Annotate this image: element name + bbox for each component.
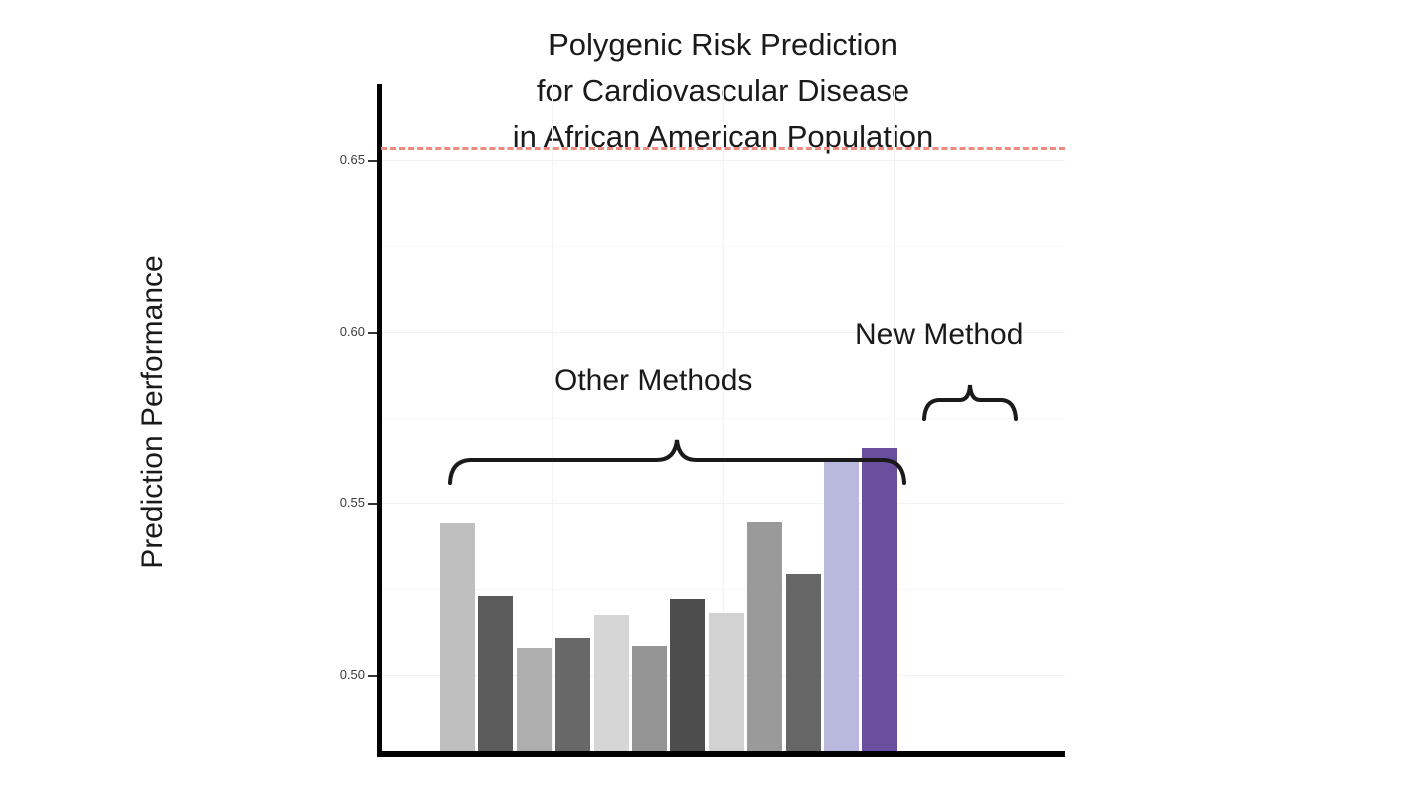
bar-method-6[interactable] [632,646,667,755]
bar-method-4[interactable] [555,638,590,755]
bar-method-8[interactable] [709,613,744,755]
y-axis-tick [368,160,377,162]
annotation-label-new-method: New Method [855,318,1023,352]
bar-method-10[interactable] [786,574,821,755]
bar-method-2[interactable] [478,596,513,755]
bar-method-3[interactable] [517,648,552,755]
y-axis-tick-label: 0.55 [305,495,365,510]
y-axis-spine [377,84,382,755]
target-threshold-line [381,147,1065,150]
y-axis-tick-label: 0.50 [305,667,365,682]
chart-figure: Polygenic Risk Prediction for Cardiovasc… [0,0,1408,792]
x-axis-spine [377,751,1065,757]
bar-method-9[interactable] [747,522,782,755]
y-axis-tick-label: 0.65 [305,152,365,167]
y-axis-tick [368,332,377,334]
bar-method-1[interactable] [440,523,475,755]
y-axis-tick-label: 0.60 [305,324,365,339]
y-axis-label: Prediction Performance [136,142,170,682]
bar-method-5[interactable] [594,615,629,755]
bar-new-method-2[interactable] [862,448,897,755]
bar-new-method-1[interactable] [824,459,859,755]
bar-method-7[interactable] [670,599,705,755]
gridline-vertical [552,84,553,755]
brace-new-method [921,375,1021,423]
annotation-label-other-methods: Other Methods [554,364,752,398]
y-axis-tick [368,503,377,505]
y-axis-tick [368,675,377,677]
brace-other-methods [447,428,907,488]
